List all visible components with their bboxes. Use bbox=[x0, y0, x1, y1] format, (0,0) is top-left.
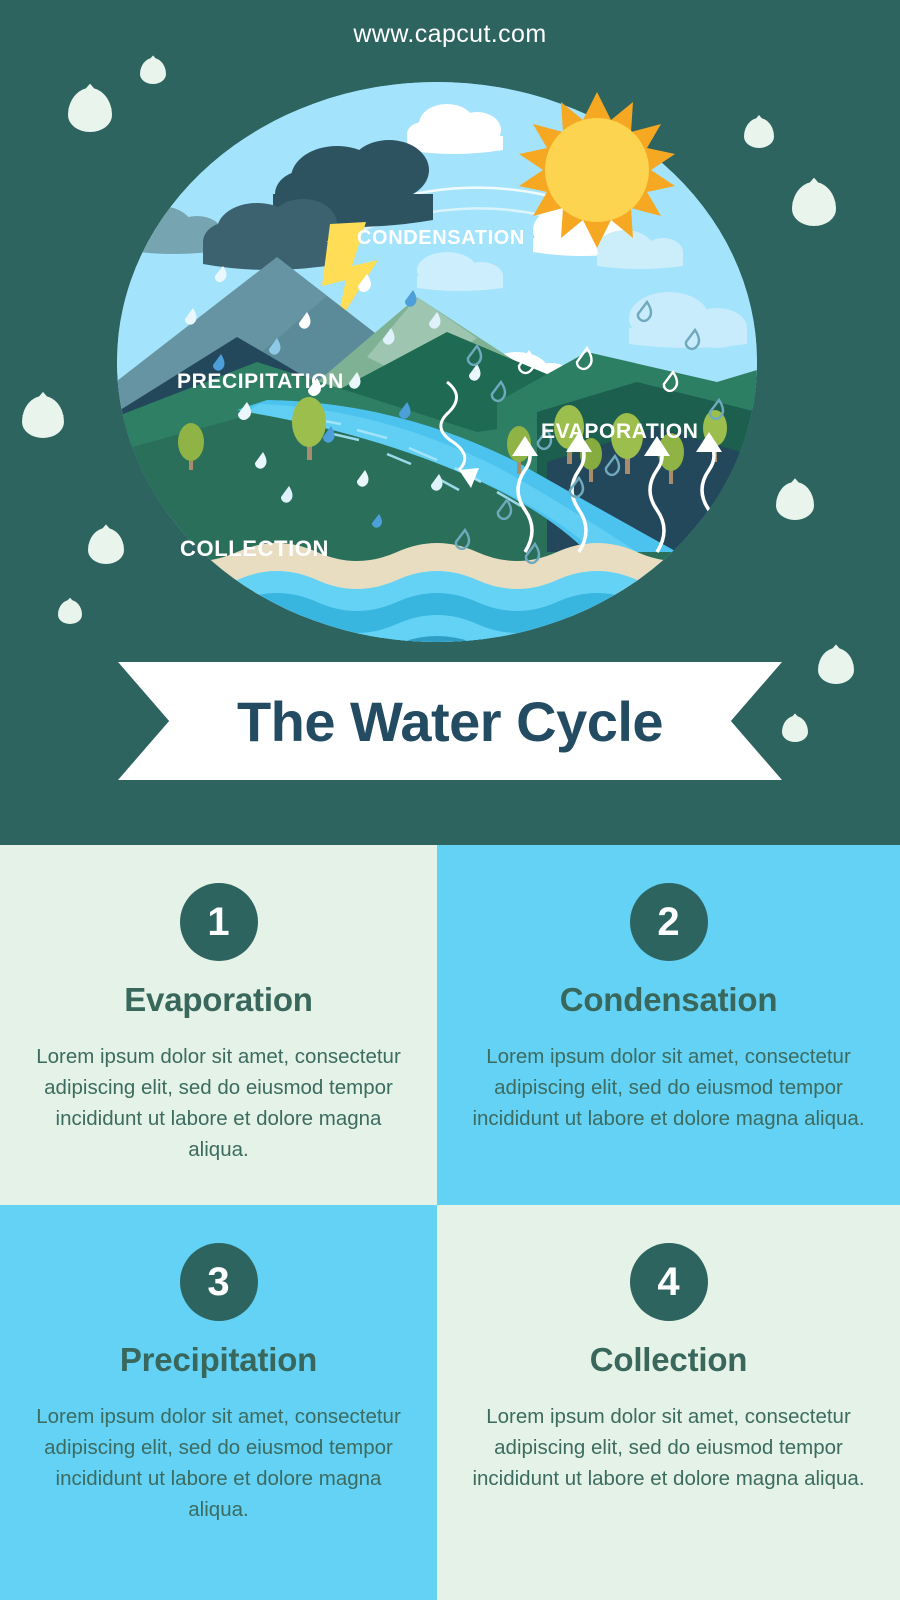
step-title: Evaporation bbox=[124, 981, 313, 1019]
step-number-badge: 1 bbox=[180, 883, 258, 961]
step-number-badge: 4 bbox=[630, 1243, 708, 1321]
raindrop-icon bbox=[140, 58, 166, 84]
raindrop-icon bbox=[818, 648, 854, 684]
steps-grid: 1 Evaporation Lorem ipsum dolor sit amet… bbox=[0, 845, 900, 1600]
raindrop-icon bbox=[782, 716, 808, 742]
step-description: Lorem ipsum dolor sit amet, consectetur … bbox=[28, 1401, 409, 1525]
label-precipitation: PRECIPITATION bbox=[177, 370, 344, 394]
step-title: Collection bbox=[590, 1341, 748, 1379]
label-evaporation: EVAPORATION bbox=[541, 420, 699, 444]
step-title: Condensation bbox=[560, 981, 778, 1019]
step-description: Lorem ipsum dolor sit amet, consectetur … bbox=[465, 1401, 872, 1494]
watermark-text: www.capcut.com bbox=[0, 20, 900, 49]
hero-section: www.capcut.com bbox=[0, 0, 900, 845]
label-condensation: CONDENSATION bbox=[357, 227, 525, 250]
raindrop-icon bbox=[792, 182, 836, 226]
step-title: Precipitation bbox=[120, 1341, 317, 1379]
label-collection: COLLECTION bbox=[180, 536, 329, 562]
step-number-badge: 3 bbox=[180, 1243, 258, 1321]
step-card-1[interactable]: 1 Evaporation Lorem ipsum dolor sit amet… bbox=[0, 845, 437, 1205]
step-description: Lorem ipsum dolor sit amet, consectetur … bbox=[465, 1041, 872, 1134]
step-card-2[interactable]: 2 Condensation Lorem ipsum dolor sit ame… bbox=[437, 845, 900, 1205]
raindrop-icon bbox=[22, 396, 64, 438]
raindrop-icon bbox=[776, 482, 814, 520]
sun-icon bbox=[519, 92, 675, 248]
page-title: The Water Cycle bbox=[237, 689, 663, 754]
raindrop-icon bbox=[68, 88, 112, 132]
step-card-4[interactable]: 4 Collection Lorem ipsum dolor sit amet,… bbox=[437, 1205, 900, 1600]
title-ribbon: The Water Cycle bbox=[118, 662, 782, 780]
step-number-badge: 2 bbox=[630, 883, 708, 961]
step-card-3[interactable]: 3 Precipitation Lorem ipsum dolor sit am… bbox=[0, 1205, 437, 1600]
step-description: Lorem ipsum dolor sit amet, consectetur … bbox=[28, 1041, 409, 1165]
raindrop-icon bbox=[58, 600, 82, 624]
